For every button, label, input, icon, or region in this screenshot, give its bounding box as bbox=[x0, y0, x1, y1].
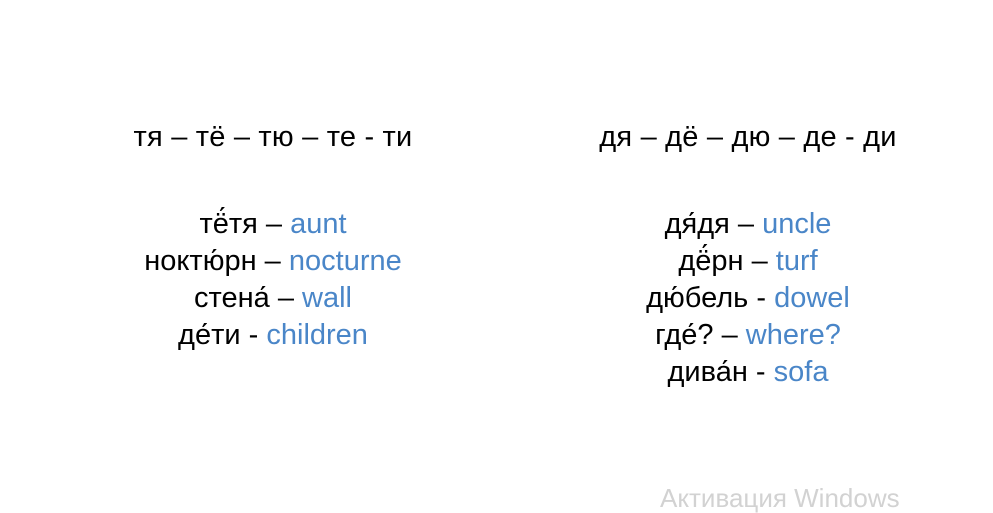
word-separator: – bbox=[265, 245, 281, 277]
word-separator: - bbox=[756, 356, 766, 388]
word-row: дя́дя – uncle bbox=[558, 206, 938, 243]
syllable-column-right: дя – дё – дю – де - ди дя́дя – uncle дё́… bbox=[558, 118, 938, 391]
word-list-right: дя́дя – uncle дё́рн – turf дю́бель - dow… bbox=[558, 206, 938, 391]
word-separator: - bbox=[756, 282, 766, 314]
syllable-header-right: дя – дё – дю – де - ди bbox=[558, 118, 938, 156]
word-row: де́ти - children bbox=[83, 317, 463, 354]
syllable-column-left: тя – тё – тю – те - ти тё́тя – aunt нокт… bbox=[83, 118, 463, 354]
windows-activation-watermark: Активация Windows bbox=[660, 483, 900, 513]
word-term: стена́ bbox=[194, 282, 270, 314]
word-row: дю́бель - dowel bbox=[558, 280, 938, 317]
word-separator: – bbox=[752, 245, 768, 277]
watermark-line-1: Активация Windows bbox=[660, 483, 900, 513]
word-row: дё́рн – turf bbox=[558, 243, 938, 280]
word-separator: – bbox=[266, 208, 282, 240]
word-list-left: тё́тя – aunt ноктю́рн – nocturne стена́ … bbox=[83, 206, 463, 354]
word-translation: where? bbox=[746, 319, 841, 351]
word-translation: uncle bbox=[762, 208, 831, 240]
word-term: дё́рн bbox=[678, 245, 743, 277]
slide-canvas: тя – тё – тю – те - ти тё́тя – aunt нокт… bbox=[0, 0, 993, 507]
word-translation: children bbox=[266, 319, 368, 351]
word-row: тё́тя – aunt bbox=[83, 206, 463, 243]
word-separator: – bbox=[738, 208, 754, 240]
word-term: дю́бель bbox=[646, 282, 748, 314]
word-translation: sofa bbox=[774, 356, 829, 388]
word-term: дива́н bbox=[668, 356, 748, 388]
word-term: дя́дя bbox=[665, 208, 730, 240]
word-translation: nocturne bbox=[289, 245, 402, 277]
word-term: ноктю́рн bbox=[144, 245, 256, 277]
word-term: где́? bbox=[655, 319, 713, 351]
word-row: ноктю́рн – nocturne bbox=[83, 243, 463, 280]
word-translation: turf bbox=[776, 245, 818, 277]
word-row: дива́н - sofa bbox=[558, 354, 938, 391]
word-term: де́ти bbox=[178, 319, 241, 351]
word-term: тё́тя bbox=[199, 208, 257, 240]
word-separator: - bbox=[249, 319, 259, 351]
word-translation: aunt bbox=[290, 208, 346, 240]
word-translation: wall bbox=[302, 282, 352, 314]
word-separator: – bbox=[278, 282, 294, 314]
word-row: где́? – where? bbox=[558, 317, 938, 354]
word-translation: dowel bbox=[774, 282, 850, 314]
word-separator: – bbox=[722, 319, 738, 351]
syllable-header-left: тя – тё – тю – те - ти bbox=[83, 118, 463, 156]
word-row: стена́ – wall bbox=[83, 280, 463, 317]
